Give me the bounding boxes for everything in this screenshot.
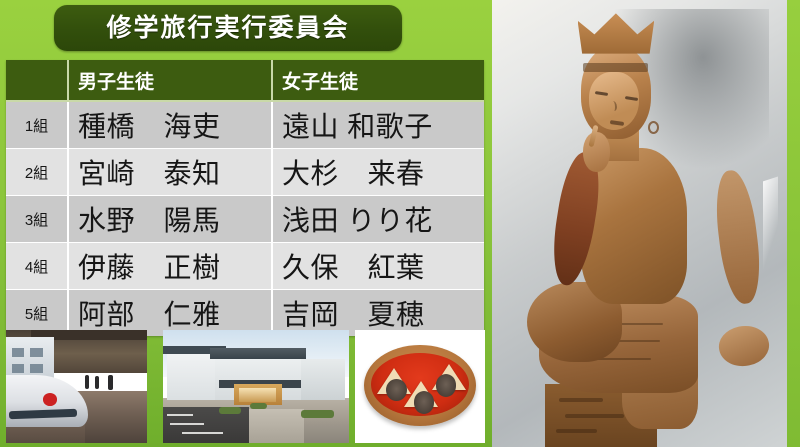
column-header-girls: 女子生徒 [272, 60, 484, 101]
cell-class: 2組 [6, 149, 68, 196]
table-row: 1組 種橋 海吏 遠山 和歌子 [6, 101, 484, 149]
cell-girl-name: 浅田 りり花 [272, 196, 484, 243]
cell-girl-name: 久保 紅葉 [272, 243, 484, 290]
cell-boy-name: 種橋 海吏 [68, 101, 272, 149]
ryokan-inn-photo [163, 330, 349, 443]
page-title: 修学旅行実行委員会 [106, 16, 349, 41]
miroku-bosatsu-statue-photo [492, 0, 787, 447]
table-row: 2組 宮崎 泰知 大杉 来春 [6, 149, 484, 196]
column-header-boys: 男子生徒 [68, 60, 272, 101]
cell-class: 4組 [6, 243, 68, 290]
table-header-row: 男子生徒 女子生徒 [6, 60, 484, 101]
cell-class: 3組 [6, 196, 68, 243]
right-green-edge-strip [787, 0, 800, 447]
column-header-class [6, 60, 68, 101]
title-box: 修学旅行実行委員会 [54, 5, 402, 51]
cell-class: 1組 [6, 101, 68, 149]
cell-boy-name: 水野 陽馬 [68, 196, 272, 243]
table-row: 4組 伊藤 正樹 久保 紅葉 [6, 243, 484, 290]
cell-girl-name: 遠山 和歌子 [272, 101, 484, 149]
presentation-slide: 修学旅行実行委員会 男子生徒 女子生徒 1組 種橋 海吏 遠山 和歌子 2組 宮… [0, 0, 800, 447]
shinkansen-platform-photo [6, 330, 147, 443]
cell-boy-name: 宮崎 泰知 [68, 149, 272, 196]
cell-boy-name: 伊藤 正樹 [68, 243, 272, 290]
yatsuhashi-sweets-photo [355, 330, 485, 443]
student-roster-table: 男子生徒 女子生徒 1組 種橋 海吏 遠山 和歌子 2組 宮崎 泰知 大杉 来春… [6, 60, 484, 336]
cell-girl-name: 大杉 来春 [272, 149, 484, 196]
table-row: 3組 水野 陽馬 浅田 りり花 [6, 196, 484, 243]
